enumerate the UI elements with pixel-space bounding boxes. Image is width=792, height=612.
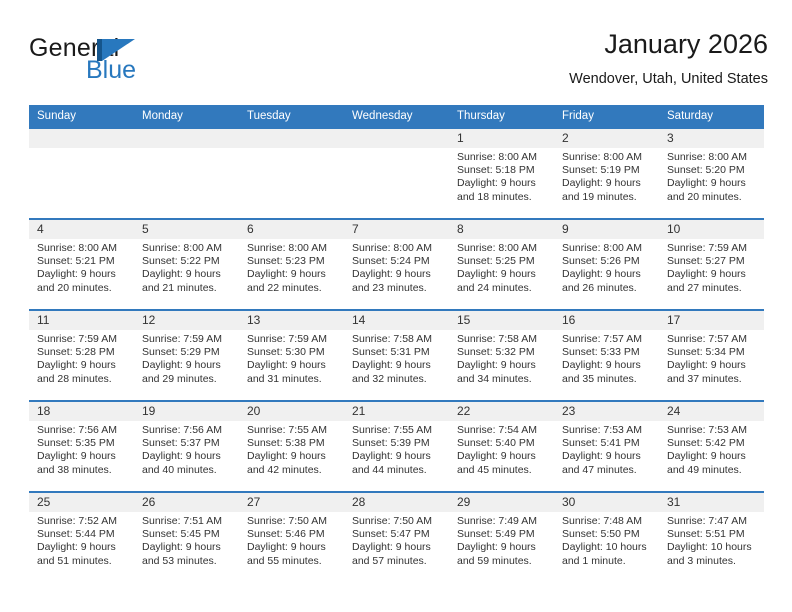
- daylight-text-line2: and 40 minutes.: [142, 464, 231, 477]
- calendar-day-cell[interactable]: 16Sunrise: 7:57 AMSunset: 5:33 PMDayligh…: [554, 310, 659, 401]
- day-number: 24: [659, 402, 764, 421]
- calendar-day-cell[interactable]: 21Sunrise: 7:55 AMSunset: 5:39 PMDayligh…: [344, 401, 449, 492]
- day-number: 25: [29, 493, 134, 512]
- calendar-day-cell[interactable]: 24Sunrise: 7:53 AMSunset: 5:42 PMDayligh…: [659, 401, 764, 492]
- day-number: 11: [29, 311, 134, 330]
- daylight-text-line1: Daylight: 9 hours: [352, 359, 441, 372]
- sunset-text: Sunset: 5:38 PM: [247, 437, 336, 450]
- daylight-text-line2: and 21 minutes.: [142, 282, 231, 295]
- daylight-text-line1: Daylight: 9 hours: [457, 359, 546, 372]
- daylight-text-line1: Daylight: 9 hours: [37, 359, 126, 372]
- daylight-text-line1: Daylight: 9 hours: [457, 177, 546, 190]
- day-number: 30: [554, 493, 659, 512]
- day-number: 8: [449, 220, 554, 239]
- daylight-text-line1: Daylight: 9 hours: [457, 450, 546, 463]
- sunrise-text: Sunrise: 8:00 AM: [457, 151, 546, 164]
- sunrise-text: Sunrise: 7:55 AM: [352, 424, 441, 437]
- daylight-text-line2: and 20 minutes.: [37, 282, 126, 295]
- daylight-text-line2: and 47 minutes.: [562, 464, 651, 477]
- sunrise-sunset-calendar-table: Sunday Monday Tuesday Wednesday Thursday…: [29, 105, 764, 582]
- daylight-text-line1: Daylight: 9 hours: [352, 450, 441, 463]
- page-header: General Blue January 2026 Wendover, Utah…: [29, 28, 768, 98]
- daylight-text-line1: Daylight: 9 hours: [562, 359, 651, 372]
- sunset-text: Sunset: 5:41 PM: [562, 437, 651, 450]
- weekday-header-sunday: Sunday: [29, 105, 134, 128]
- daylight-text-line2: and 27 minutes.: [667, 282, 756, 295]
- sunset-text: Sunset: 5:29 PM: [142, 346, 231, 359]
- sunrise-text: Sunrise: 7:53 AM: [667, 424, 756, 437]
- calendar-day-cell[interactable]: 30Sunrise: 7:48 AMSunset: 5:50 PMDayligh…: [554, 492, 659, 582]
- sunset-text: Sunset: 5:20 PM: [667, 164, 756, 177]
- sunrise-text: Sunrise: 7:57 AM: [562, 333, 651, 346]
- daylight-text-line1: Daylight: 9 hours: [667, 177, 756, 190]
- day-number: 18: [29, 402, 134, 421]
- day-number: 6: [239, 220, 344, 239]
- sunrise-text: Sunrise: 8:00 AM: [457, 242, 546, 255]
- daylight-text-line1: Daylight: 9 hours: [37, 450, 126, 463]
- calendar-day-cell[interactable]: 22Sunrise: 7:54 AMSunset: 5:40 PMDayligh…: [449, 401, 554, 492]
- daylight-text-line2: and 59 minutes.: [457, 555, 546, 568]
- daylight-text-line1: Daylight: 9 hours: [247, 268, 336, 281]
- calendar-day-cell[interactable]: [239, 128, 344, 219]
- sunset-text: Sunset: 5:40 PM: [457, 437, 546, 450]
- sunrise-text: Sunrise: 7:59 AM: [142, 333, 231, 346]
- sunset-text: Sunset: 5:19 PM: [562, 164, 651, 177]
- day-number: 22: [449, 402, 554, 421]
- calendar-day-cell[interactable]: 14Sunrise: 7:58 AMSunset: 5:31 PMDayligh…: [344, 310, 449, 401]
- day-number: 23: [554, 402, 659, 421]
- sunrise-text: Sunrise: 7:57 AM: [667, 333, 756, 346]
- daylight-text-line1: Daylight: 9 hours: [667, 450, 756, 463]
- sunset-text: Sunset: 5:24 PM: [352, 255, 441, 268]
- calendar-day-cell[interactable]: 28Sunrise: 7:50 AMSunset: 5:47 PMDayligh…: [344, 492, 449, 582]
- calendar-day-cell[interactable]: 19Sunrise: 7:56 AMSunset: 5:37 PMDayligh…: [134, 401, 239, 492]
- calendar-day-cell[interactable]: 1Sunrise: 8:00 AMSunset: 5:18 PMDaylight…: [449, 128, 554, 219]
- calendar-day-cell[interactable]: [134, 128, 239, 219]
- calendar-day-cell[interactable]: 6Sunrise: 8:00 AMSunset: 5:23 PMDaylight…: [239, 219, 344, 310]
- daylight-text-line2: and 42 minutes.: [247, 464, 336, 477]
- day-number: [239, 129, 344, 148]
- daylight-text-line1: Daylight: 9 hours: [667, 268, 756, 281]
- daylight-text-line2: and 18 minutes.: [457, 191, 546, 204]
- daylight-text-line2: and 31 minutes.: [247, 373, 336, 386]
- calendar-day-cell[interactable]: 23Sunrise: 7:53 AMSunset: 5:41 PMDayligh…: [554, 401, 659, 492]
- day-number: 2: [554, 129, 659, 148]
- sunset-text: Sunset: 5:37 PM: [142, 437, 231, 450]
- day-number: 31: [659, 493, 764, 512]
- daylight-text-line2: and 22 minutes.: [247, 282, 336, 295]
- sunrise-text: Sunrise: 8:00 AM: [667, 151, 756, 164]
- sunset-text: Sunset: 5:30 PM: [247, 346, 336, 359]
- daylight-text-line2: and 23 minutes.: [352, 282, 441, 295]
- sunset-text: Sunset: 5:21 PM: [37, 255, 126, 268]
- day-number: 5: [134, 220, 239, 239]
- daylight-text-line1: Daylight: 9 hours: [562, 268, 651, 281]
- sunset-text: Sunset: 5:32 PM: [457, 346, 546, 359]
- daylight-text-line1: Daylight: 9 hours: [247, 359, 336, 372]
- day-number: 27: [239, 493, 344, 512]
- daylight-text-line2: and 51 minutes.: [37, 555, 126, 568]
- calendar-day-cell[interactable]: 27Sunrise: 7:50 AMSunset: 5:46 PMDayligh…: [239, 492, 344, 582]
- daylight-text-line2: and 35 minutes.: [562, 373, 651, 386]
- calendar-day-cell[interactable]: 13Sunrise: 7:59 AMSunset: 5:30 PMDayligh…: [239, 310, 344, 401]
- calendar-day-cell[interactable]: 8Sunrise: 8:00 AMSunset: 5:25 PMDaylight…: [449, 219, 554, 310]
- daylight-text-line1: Daylight: 9 hours: [247, 450, 336, 463]
- page-title: January 2026: [268, 28, 768, 60]
- daylight-text-line2: and 26 minutes.: [562, 282, 651, 295]
- daylight-text-line1: Daylight: 9 hours: [142, 268, 231, 281]
- sunrise-text: Sunrise: 7:53 AM: [562, 424, 651, 437]
- day-number: 4: [29, 220, 134, 239]
- sunset-text: Sunset: 5:39 PM: [352, 437, 441, 450]
- calendar-day-cell[interactable]: 9Sunrise: 8:00 AMSunset: 5:26 PMDaylight…: [554, 219, 659, 310]
- sunset-text: Sunset: 5:31 PM: [352, 346, 441, 359]
- calendar-week-row: 1Sunrise: 8:00 AMSunset: 5:18 PMDaylight…: [29, 128, 764, 219]
- sunrise-text: Sunrise: 8:00 AM: [562, 151, 651, 164]
- sunset-text: Sunset: 5:46 PM: [247, 528, 336, 541]
- day-number: 16: [554, 311, 659, 330]
- daylight-text-line1: Daylight: 10 hours: [667, 541, 756, 554]
- daylight-text-line1: Daylight: 9 hours: [352, 268, 441, 281]
- calendar-page: General Blue January 2026 Wendover, Utah…: [0, 0, 792, 612]
- calendar-day-cell[interactable]: [344, 128, 449, 219]
- calendar-day-cell[interactable]: [29, 128, 134, 219]
- sunrise-text: Sunrise: 7:56 AM: [37, 424, 126, 437]
- daylight-text-line2: and 1 minute.: [562, 555, 651, 568]
- day-number: 20: [239, 402, 344, 421]
- day-number: [344, 129, 449, 148]
- day-number: 13: [239, 311, 344, 330]
- calendar-day-cell[interactable]: 17Sunrise: 7:57 AMSunset: 5:34 PMDayligh…: [659, 310, 764, 401]
- calendar-day-cell[interactable]: 20Sunrise: 7:55 AMSunset: 5:38 PMDayligh…: [239, 401, 344, 492]
- day-number: 7: [344, 220, 449, 239]
- sunrise-text: Sunrise: 7:54 AM: [457, 424, 546, 437]
- sunset-text: Sunset: 5:35 PM: [37, 437, 126, 450]
- calendar-day-cell[interactable]: 10Sunrise: 7:59 AMSunset: 5:27 PMDayligh…: [659, 219, 764, 310]
- brand-name-blue: Blue: [86, 56, 136, 85]
- weekday-header-friday: Friday: [554, 105, 659, 128]
- sunrise-text: Sunrise: 7:52 AM: [37, 515, 126, 528]
- calendar-day-cell[interactable]: 15Sunrise: 7:58 AMSunset: 5:32 PMDayligh…: [449, 310, 554, 401]
- sunrise-text: Sunrise: 7:55 AM: [247, 424, 336, 437]
- sunset-text: Sunset: 5:18 PM: [457, 164, 546, 177]
- sunrise-text: Sunrise: 7:58 AM: [457, 333, 546, 346]
- daylight-text-line1: Daylight: 9 hours: [457, 268, 546, 281]
- calendar-day-cell[interactable]: 18Sunrise: 7:56 AMSunset: 5:35 PMDayligh…: [29, 401, 134, 492]
- sunset-text: Sunset: 5:44 PM: [37, 528, 126, 541]
- daylight-text-line1: Daylight: 9 hours: [142, 541, 231, 554]
- calendar-day-cell[interactable]: 31Sunrise: 7:47 AMSunset: 5:51 PMDayligh…: [659, 492, 764, 582]
- day-number: 17: [659, 311, 764, 330]
- daylight-text-line1: Daylight: 9 hours: [142, 450, 231, 463]
- sunrise-text: Sunrise: 7:59 AM: [37, 333, 126, 346]
- sunrise-text: Sunrise: 7:58 AM: [352, 333, 441, 346]
- calendar-day-cell[interactable]: 29Sunrise: 7:49 AMSunset: 5:49 PMDayligh…: [449, 492, 554, 582]
- daylight-text-line2: and 49 minutes.: [667, 464, 756, 477]
- day-number: 12: [134, 311, 239, 330]
- sunset-text: Sunset: 5:27 PM: [667, 255, 756, 268]
- sunset-text: Sunset: 5:50 PM: [562, 528, 651, 541]
- sunrise-text: Sunrise: 8:00 AM: [37, 242, 126, 255]
- calendar-week-row: 25Sunrise: 7:52 AMSunset: 5:44 PMDayligh…: [29, 492, 764, 582]
- daylight-text-line2: and 32 minutes.: [352, 373, 441, 386]
- weekday-header-tuesday: Tuesday: [239, 105, 344, 128]
- sunset-text: Sunset: 5:33 PM: [562, 346, 651, 359]
- sunrise-text: Sunrise: 8:00 AM: [562, 242, 651, 255]
- daylight-text-line2: and 57 minutes.: [352, 555, 441, 568]
- daylight-text-line2: and 45 minutes.: [457, 464, 546, 477]
- sunset-text: Sunset: 5:49 PM: [457, 528, 546, 541]
- sunset-text: Sunset: 5:22 PM: [142, 255, 231, 268]
- sunrise-text: Sunrise: 7:47 AM: [667, 515, 756, 528]
- sunset-text: Sunset: 5:28 PM: [37, 346, 126, 359]
- sunrise-text: Sunrise: 7:49 AM: [457, 515, 546, 528]
- day-number: 15: [449, 311, 554, 330]
- sunrise-text: Sunrise: 8:00 AM: [352, 242, 441, 255]
- daylight-text-line1: Daylight: 9 hours: [457, 541, 546, 554]
- daylight-text-line2: and 29 minutes.: [142, 373, 231, 386]
- sunrise-text: Sunrise: 7:50 AM: [352, 515, 441, 528]
- daylight-text-line1: Daylight: 9 hours: [37, 541, 126, 554]
- day-number: [29, 129, 134, 148]
- calendar-day-cell[interactable]: 11Sunrise: 7:59 AMSunset: 5:28 PMDayligh…: [29, 310, 134, 401]
- sunset-text: Sunset: 5:23 PM: [247, 255, 336, 268]
- day-number: 9: [554, 220, 659, 239]
- daylight-text-line2: and 24 minutes.: [457, 282, 546, 295]
- sunrise-text: Sunrise: 7:59 AM: [247, 333, 336, 346]
- daylight-text-line2: and 19 minutes.: [562, 191, 651, 204]
- sunset-text: Sunset: 5:25 PM: [457, 255, 546, 268]
- daylight-text-line2: and 34 minutes.: [457, 373, 546, 386]
- daylight-text-line2: and 53 minutes.: [142, 555, 231, 568]
- sunset-text: Sunset: 5:47 PM: [352, 528, 441, 541]
- sunset-text: Sunset: 5:51 PM: [667, 528, 756, 541]
- day-number: 1: [449, 129, 554, 148]
- calendar-day-cell[interactable]: 2Sunrise: 8:00 AMSunset: 5:19 PMDaylight…: [554, 128, 659, 219]
- sunrise-text: Sunrise: 8:00 AM: [142, 242, 231, 255]
- sunrise-text: Sunrise: 7:50 AM: [247, 515, 336, 528]
- calendar-week-row: 18Sunrise: 7:56 AMSunset: 5:35 PMDayligh…: [29, 401, 764, 492]
- day-number: 14: [344, 311, 449, 330]
- sunset-text: Sunset: 5:45 PM: [142, 528, 231, 541]
- sunrise-text: Sunrise: 8:00 AM: [247, 242, 336, 255]
- calendar-day-cell[interactable]: 26Sunrise: 7:51 AMSunset: 5:45 PMDayligh…: [134, 492, 239, 582]
- daylight-text-line1: Daylight: 9 hours: [142, 359, 231, 372]
- daylight-text-line2: and 55 minutes.: [247, 555, 336, 568]
- title-block: January 2026 Wendover, Utah, United Stat…: [268, 28, 768, 88]
- day-number: 28: [344, 493, 449, 512]
- sunrise-text: Sunrise: 7:48 AM: [562, 515, 651, 528]
- calendar-header-row: Sunday Monday Tuesday Wednesday Thursday…: [29, 105, 764, 128]
- calendar-week-row: 4Sunrise: 8:00 AMSunset: 5:21 PMDaylight…: [29, 219, 764, 310]
- calendar-day-cell[interactable]: 7Sunrise: 8:00 AMSunset: 5:24 PMDaylight…: [344, 219, 449, 310]
- daylight-text-line2: and 20 minutes.: [667, 191, 756, 204]
- sunset-text: Sunset: 5:42 PM: [667, 437, 756, 450]
- day-number: 19: [134, 402, 239, 421]
- sunrise-text: Sunrise: 7:56 AM: [142, 424, 231, 437]
- page-subtitle: Wendover, Utah, United States: [268, 70, 768, 88]
- weekday-header-thursday: Thursday: [449, 105, 554, 128]
- daylight-text-line2: and 44 minutes.: [352, 464, 441, 477]
- day-number: 26: [134, 493, 239, 512]
- calendar-day-cell[interactable]: 5Sunrise: 8:00 AMSunset: 5:22 PMDaylight…: [134, 219, 239, 310]
- daylight-text-line1: Daylight: 10 hours: [562, 541, 651, 554]
- day-number: 10: [659, 220, 764, 239]
- calendar-body: 1Sunrise: 8:00 AMSunset: 5:18 PMDaylight…: [29, 128, 764, 582]
- weekday-header-monday: Monday: [134, 105, 239, 128]
- sunset-text: Sunset: 5:26 PM: [562, 255, 651, 268]
- calendar-day-cell[interactable]: 3Sunrise: 8:00 AMSunset: 5:20 PMDaylight…: [659, 128, 764, 219]
- sunset-text: Sunset: 5:34 PM: [667, 346, 756, 359]
- daylight-text-line1: Daylight: 9 hours: [247, 541, 336, 554]
- daylight-text-line2: and 3 minutes.: [667, 555, 756, 568]
- day-number: 21: [344, 402, 449, 421]
- daylight-text-line1: Daylight: 9 hours: [562, 177, 651, 190]
- day-number: 29: [449, 493, 554, 512]
- daylight-text-line1: Daylight: 9 hours: [562, 450, 651, 463]
- calendar-day-cell[interactable]: 25Sunrise: 7:52 AMSunset: 5:44 PMDayligh…: [29, 492, 134, 582]
- weekday-header-saturday: Saturday: [659, 105, 764, 128]
- day-number: [134, 129, 239, 148]
- weekday-header-wednesday: Wednesday: [344, 105, 449, 128]
- calendar-day-cell[interactable]: 4Sunrise: 8:00 AMSunset: 5:21 PMDaylight…: [29, 219, 134, 310]
- daylight-text-line2: and 28 minutes.: [37, 373, 126, 386]
- daylight-text-line1: Daylight: 9 hours: [37, 268, 126, 281]
- brand-logo[interactable]: General Blue: [29, 34, 259, 90]
- calendar-day-cell[interactable]: 12Sunrise: 7:59 AMSunset: 5:29 PMDayligh…: [134, 310, 239, 401]
- daylight-text-line1: Daylight: 9 hours: [667, 359, 756, 372]
- daylight-text-line1: Daylight: 9 hours: [352, 541, 441, 554]
- daylight-text-line2: and 38 minutes.: [37, 464, 126, 477]
- sunrise-text: Sunrise: 7:59 AM: [667, 242, 756, 255]
- day-number: 3: [659, 129, 764, 148]
- calendar-week-row: 11Sunrise: 7:59 AMSunset: 5:28 PMDayligh…: [29, 310, 764, 401]
- daylight-text-line2: and 37 minutes.: [667, 373, 756, 386]
- sunrise-text: Sunrise: 7:51 AM: [142, 515, 231, 528]
